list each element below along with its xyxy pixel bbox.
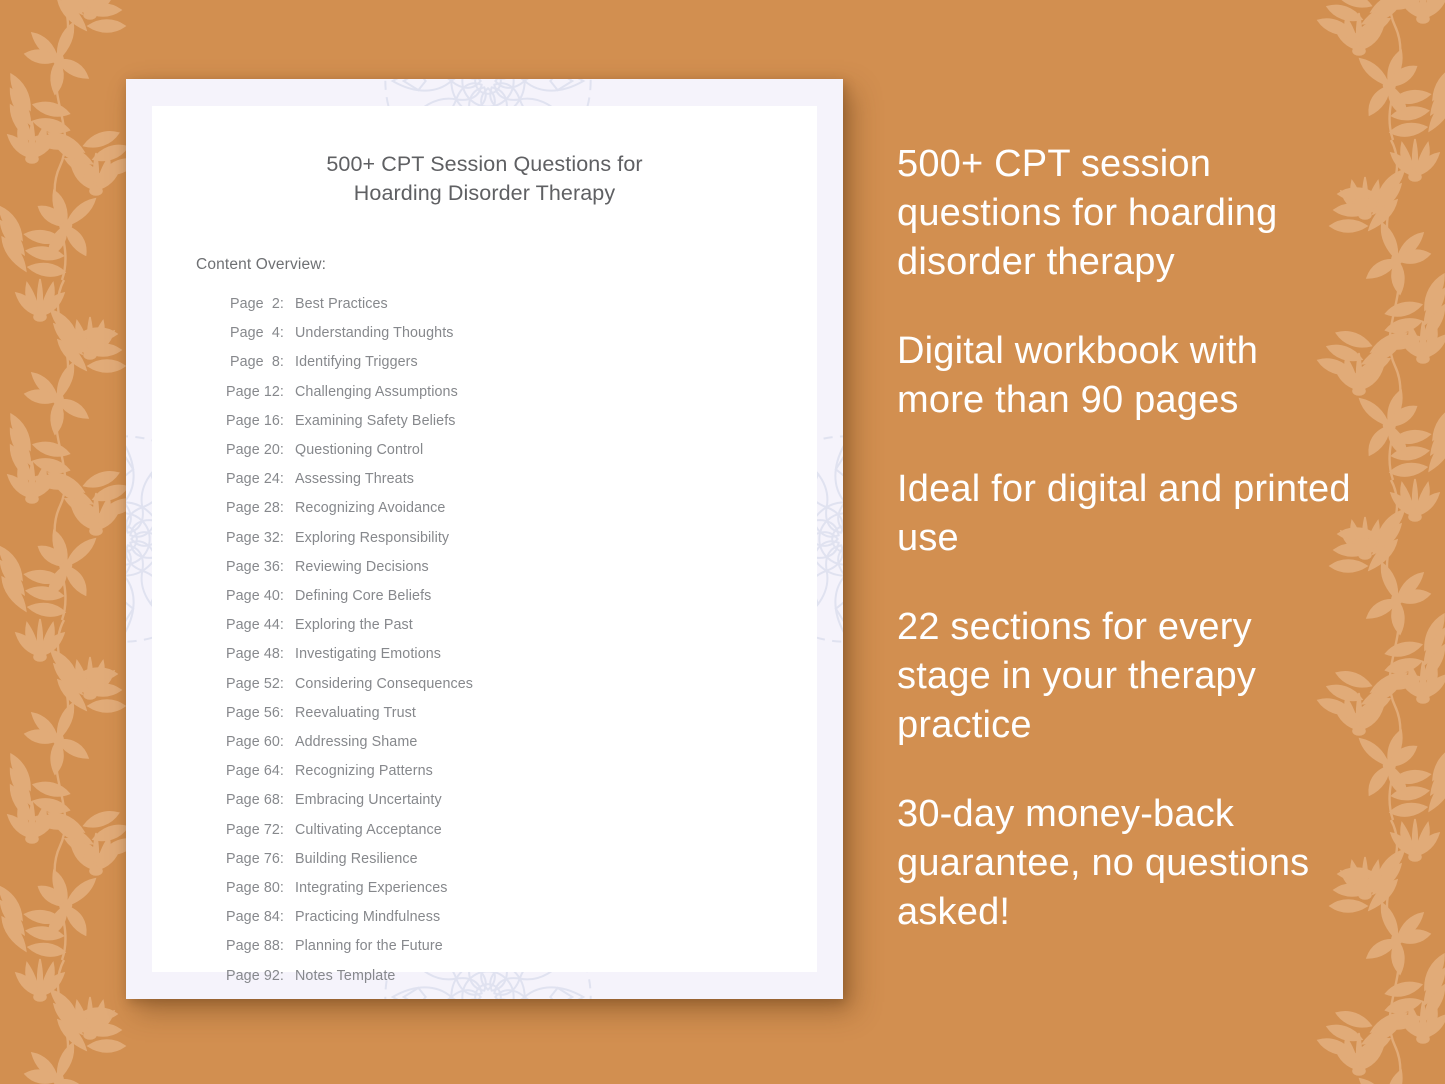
promo-copy-list: 500+ CPT session questions for hoarding … bbox=[897, 140, 1352, 937]
promo-text-block: 30-day money-back guarantee, no question… bbox=[897, 790, 1352, 937]
toc-section-title: Exploring the Past bbox=[295, 611, 773, 640]
toc-row: Page 76:Building Resilience bbox=[218, 845, 773, 874]
toc-section-title: Practicing Mindfulness bbox=[295, 903, 773, 932]
toc-page-number: Page 36: bbox=[218, 553, 284, 582]
promo-text-block: 22 sections for every stage in your ther… bbox=[897, 603, 1352, 750]
toc-page-number: Page 68: bbox=[218, 786, 284, 815]
toc-section-title: Defining Core Beliefs bbox=[295, 582, 773, 611]
toc-section-title: Recognizing Avoidance bbox=[295, 494, 773, 523]
toc-section-title: Reevaluating Trust bbox=[295, 699, 773, 728]
toc-page-number: Page 32: bbox=[218, 524, 284, 553]
toc-row: Page 84:Practicing Mindfulness bbox=[218, 903, 773, 932]
floral-vine-border-left-icon bbox=[0, 0, 142, 1084]
toc-page-number: Page 40: bbox=[218, 582, 284, 611]
toc-page-number: Page 52: bbox=[218, 670, 284, 699]
toc-section-title: Cultivating Acceptance bbox=[295, 816, 773, 845]
toc-section-title: Addressing Shame bbox=[295, 728, 773, 757]
toc-section-title: Investigating Emotions bbox=[295, 640, 773, 669]
toc-page-number: Page 80: bbox=[218, 874, 284, 903]
toc-page-number: Page 44: bbox=[218, 611, 284, 640]
toc-row: Page 4:Understanding Thoughts bbox=[218, 319, 773, 348]
toc-page-number: Page 72: bbox=[218, 816, 284, 845]
toc-row: Page 72:Cultivating Acceptance bbox=[218, 816, 773, 845]
toc-page-number: Page 60: bbox=[218, 728, 284, 757]
toc-page-number: Page 2: bbox=[218, 290, 284, 319]
toc-row: Page 16:Examining Safety Beliefs bbox=[218, 407, 773, 436]
toc-row: Page 92:Notes Template bbox=[218, 962, 773, 991]
toc-section-title: Integrating Experiences bbox=[295, 874, 773, 903]
page-title: 500+ CPT Session Questions for Hoarding … bbox=[196, 150, 773, 208]
toc-section-title: Understanding Thoughts bbox=[295, 319, 773, 348]
content-overview-label: Content Overview: bbox=[196, 256, 773, 274]
document-preview-card[interactable]: 500+ CPT Session Questions for Hoarding … bbox=[126, 79, 843, 999]
toc-row: Page 80:Integrating Experiences bbox=[218, 874, 773, 903]
toc-row: Page 12:Challenging Assumptions bbox=[218, 378, 773, 407]
toc-section-title: Reviewing Decisions bbox=[295, 553, 773, 582]
toc-page-number: Page 28: bbox=[218, 494, 284, 523]
toc-row: Page 8:Identifying Triggers bbox=[218, 348, 773, 377]
toc-section-title: Recognizing Patterns bbox=[295, 757, 773, 786]
toc-page-number: Page 24: bbox=[218, 465, 284, 494]
toc-page-number: Page 84: bbox=[218, 903, 284, 932]
toc-section-title: Embracing Uncertainty bbox=[295, 786, 773, 815]
toc-row: Page 64:Recognizing Patterns bbox=[218, 757, 773, 786]
toc-section-title: Planning for the Future bbox=[295, 932, 773, 961]
toc-row: Page 32:Exploring Responsibility bbox=[218, 524, 773, 553]
toc-section-title: Best Practices bbox=[295, 290, 773, 319]
promo-text-block: 500+ CPT session questions for hoarding … bbox=[897, 140, 1352, 287]
toc-page-number: Page 56: bbox=[218, 699, 284, 728]
toc-section-title: Building Resilience bbox=[295, 845, 773, 874]
toc-row: Page 68:Embracing Uncertainty bbox=[218, 786, 773, 815]
table-of-contents: Page 2:Best PracticesPage 4:Understandin… bbox=[196, 290, 773, 991]
toc-row: Page 48:Investigating Emotions bbox=[218, 640, 773, 669]
toc-section-title: Questioning Control bbox=[295, 436, 773, 465]
toc-row: Page 20:Questioning Control bbox=[218, 436, 773, 465]
document-page: 500+ CPT Session Questions for Hoarding … bbox=[152, 106, 817, 972]
toc-row: Page 52:Considering Consequences bbox=[218, 670, 773, 699]
promo-text-block: Digital workbook with more than 90 pages bbox=[897, 327, 1352, 425]
toc-section-title: Examining Safety Beliefs bbox=[295, 407, 773, 436]
toc-section-title: Challenging Assumptions bbox=[295, 378, 773, 407]
toc-page-number: Page 88: bbox=[218, 932, 284, 961]
toc-page-number: Page 4: bbox=[218, 319, 284, 348]
toc-section-title: Assessing Threats bbox=[295, 465, 773, 494]
toc-row: Page 56:Reevaluating Trust bbox=[218, 699, 773, 728]
toc-page-number: Page 76: bbox=[218, 845, 284, 874]
toc-row: Page 2:Best Practices bbox=[218, 290, 773, 319]
toc-section-title: Considering Consequences bbox=[295, 670, 773, 699]
toc-page-number: Page 16: bbox=[218, 407, 284, 436]
toc-page-number: Page 64: bbox=[218, 757, 284, 786]
promotional-graphic: 500+ CPT Session Questions for Hoarding … bbox=[0, 0, 1445, 1084]
toc-row: Page 36:Reviewing Decisions bbox=[218, 553, 773, 582]
toc-row: Page 60:Addressing Shame bbox=[218, 728, 773, 757]
toc-section-title: Notes Template bbox=[295, 962, 773, 991]
toc-row: Page 44:Exploring the Past bbox=[218, 611, 773, 640]
toc-row: Page 28:Recognizing Avoidance bbox=[218, 494, 773, 523]
toc-page-number: Page 20: bbox=[218, 436, 284, 465]
toc-row: Page 24:Assessing Threats bbox=[218, 465, 773, 494]
toc-section-title: Exploring Responsibility bbox=[295, 524, 773, 553]
toc-page-number: Page 12: bbox=[218, 378, 284, 407]
toc-page-number: Page 48: bbox=[218, 640, 284, 669]
promo-text-block: Ideal for digital and printed use bbox=[897, 465, 1352, 563]
toc-section-title: Identifying Triggers bbox=[295, 348, 773, 377]
toc-page-number: Page 92: bbox=[218, 962, 284, 991]
toc-page-number: Page 8: bbox=[218, 348, 284, 377]
toc-row: Page 40:Defining Core Beliefs bbox=[218, 582, 773, 611]
toc-row: Page 88:Planning for the Future bbox=[218, 932, 773, 961]
